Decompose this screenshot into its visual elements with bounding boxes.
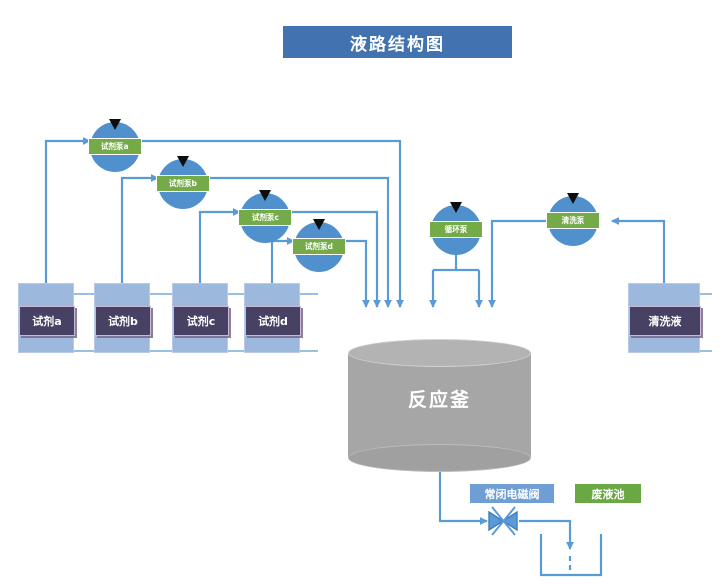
- pipe-valve-to-waste-pool: [519, 521, 570, 549]
- circulation-pump[interactable]: 循环泵: [431, 205, 481, 255]
- pump-label-plate: 试剂泵c: [238, 209, 292, 226]
- pump-head-icon: [259, 190, 271, 201]
- bottle-label-plate: 试剂c: [173, 306, 229, 336]
- reagent-b-label: 试剂b: [108, 313, 138, 329]
- reagent-c-label: 试剂c: [187, 313, 216, 329]
- bottle-label-plate: 试剂b: [95, 306, 151, 336]
- reactor-label: 反应釜: [348, 385, 531, 412]
- reagent-pump-b-label: 试剂泵b: [169, 178, 197, 189]
- pump-label-plate: 试剂泵d: [292, 238, 346, 255]
- cleaning-pump[interactable]: 清洗泵: [548, 196, 598, 246]
- pipe-reagent-a-to-pump-a: [46, 141, 90, 300]
- reactor-bottom: [348, 444, 531, 472]
- waste-pool-tag: 废液池: [575, 484, 641, 503]
- reagent-bottle-b[interactable]: 试剂b: [94, 283, 150, 353]
- pipe-pump-d-to-reactor: [344, 241, 366, 307]
- reagent-bottle-d[interactable]: 试剂d: [244, 283, 300, 353]
- pump-head-icon: [177, 156, 189, 167]
- reagent-pump-d-label: 试剂泵d: [305, 241, 333, 252]
- pipe-reagent-b-to-pump-b: [122, 178, 158, 300]
- reagent-a-label: 试剂a: [32, 313, 61, 329]
- bottle-label-plate: 清洗液: [629, 306, 701, 336]
- cleaning-liquid-label: 清洗液: [649, 313, 682, 329]
- pump-head-icon: [567, 193, 579, 204]
- reagent-pump-b[interactable]: 试剂泵b: [158, 159, 208, 209]
- pump-head-icon: [313, 219, 325, 230]
- bottle-label-plate: 试剂a: [19, 306, 75, 336]
- pump-label-plate: 试剂泵b: [156, 175, 210, 192]
- cleaning-liquid-bottle[interactable]: 清洗液: [628, 283, 700, 353]
- reagent-d-label: 试剂d: [258, 313, 288, 329]
- reagent-pump-a-label: 试剂泵a: [101, 141, 129, 152]
- pump-label-plate: 循环泵: [429, 221, 483, 238]
- solenoid-valve-symbol: [489, 507, 517, 535]
- reagent-pump-a[interactable]: 试剂泵a: [90, 122, 140, 172]
- pump-label-plate: 试剂泵a: [88, 138, 142, 155]
- cleaning-pump-label: 清洗泵: [562, 215, 585, 226]
- pipe-cleaning-pump-to-reactor: [492, 221, 548, 307]
- pump-head-icon: [109, 119, 121, 130]
- solenoid-valve-label: 常闭电磁阀: [485, 486, 540, 502]
- waste-pool-label: 废液池: [592, 486, 625, 502]
- reagent-pump-d[interactable]: 试剂泵d: [294, 222, 344, 272]
- solenoid-valve-tag: 常闭电磁阀: [470, 484, 554, 503]
- reagent-bottle-c[interactable]: 试剂c: [172, 283, 228, 353]
- reagent-pump-c[interactable]: 试剂泵c: [240, 193, 290, 243]
- pump-label-plate: 清洗泵: [546, 212, 600, 229]
- page-title: 液路结构图: [283, 26, 512, 58]
- reagent-pump-c-label: 试剂泵c: [251, 212, 278, 223]
- reactor-top: [348, 339, 531, 367]
- bottle-label-plate: 试剂d: [245, 306, 301, 336]
- diagram-canvas: 液路结构图 试剂泵a 试剂泵b 试剂泵c 试剂泵d 循环泵: [0, 0, 725, 585]
- pump-head-icon: [450, 202, 462, 213]
- page-title-text: 液路结构图: [350, 30, 445, 55]
- reactor-vessel[interactable]: 反应釜: [348, 339, 531, 472]
- reagent-bottle-a[interactable]: 试剂a: [18, 283, 74, 353]
- circulation-pump-label: 循环泵: [445, 224, 468, 235]
